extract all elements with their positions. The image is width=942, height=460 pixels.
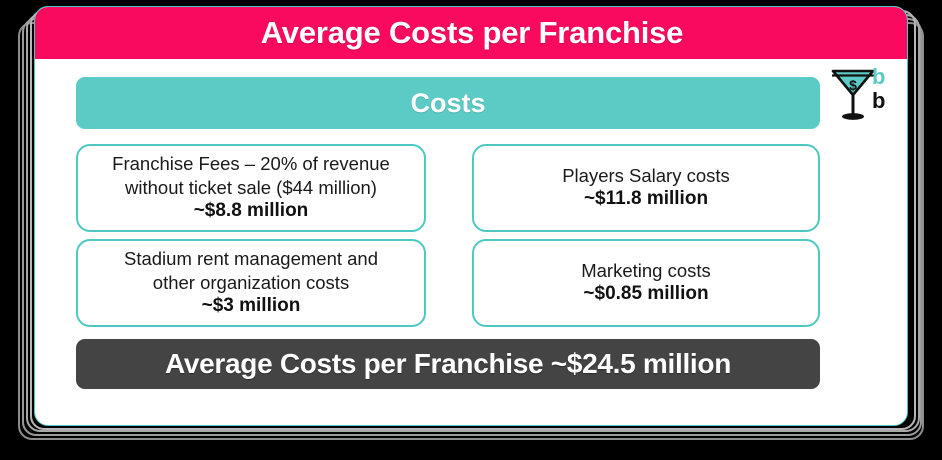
brand-logo: $ b b xyxy=(830,65,902,127)
martini-glass-icon: $ xyxy=(830,65,876,123)
cost-box-marketing: Marketing costs ~$0.85 million xyxy=(472,239,820,327)
section-header-label: Costs xyxy=(410,88,485,119)
cost-box-line: Marketing costs xyxy=(581,259,711,282)
slide-canvas: Average Costs per Franchise Costs $ b b … xyxy=(0,0,942,460)
page-title: Average Costs per Franchise xyxy=(261,15,683,51)
cost-box-line: without ticket sale ($44 million) xyxy=(125,176,377,199)
svg-text:$: $ xyxy=(849,77,857,93)
cost-box-line: Franchise Fees – 20% of revenue xyxy=(112,152,390,175)
cost-box-line: other organization costs xyxy=(153,271,349,294)
cost-box-amount: ~$3 million xyxy=(202,294,301,319)
logo-letter-top: b xyxy=(872,66,885,88)
title-banner: Average Costs per Franchise xyxy=(35,7,908,59)
section-header-costs: Costs xyxy=(76,77,820,129)
cost-box-amount: ~$8.8 million xyxy=(194,199,309,224)
cost-box-line: Players Salary costs xyxy=(562,164,730,187)
cost-box-line: Stadium rent management and xyxy=(124,247,378,270)
cost-box-players-salary: Players Salary costs ~$11.8 million xyxy=(472,144,820,232)
content-card: Average Costs per Franchise Costs $ b b … xyxy=(34,6,908,426)
cost-box-franchise-fees: Franchise Fees – 20% of revenue without … xyxy=(76,144,426,232)
cost-box-amount: ~$0.85 million xyxy=(583,282,708,307)
cost-box-stadium-rent: Stadium rent management and other organi… xyxy=(76,239,426,327)
cost-box-amount: ~$11.8 million xyxy=(584,187,708,212)
logo-letter-bottom: b xyxy=(872,90,885,112)
total-summary-label: Average Costs per Franchise ~$24.5 milli… xyxy=(165,348,731,380)
total-summary-bar: Average Costs per Franchise ~$24.5 milli… xyxy=(76,339,820,389)
